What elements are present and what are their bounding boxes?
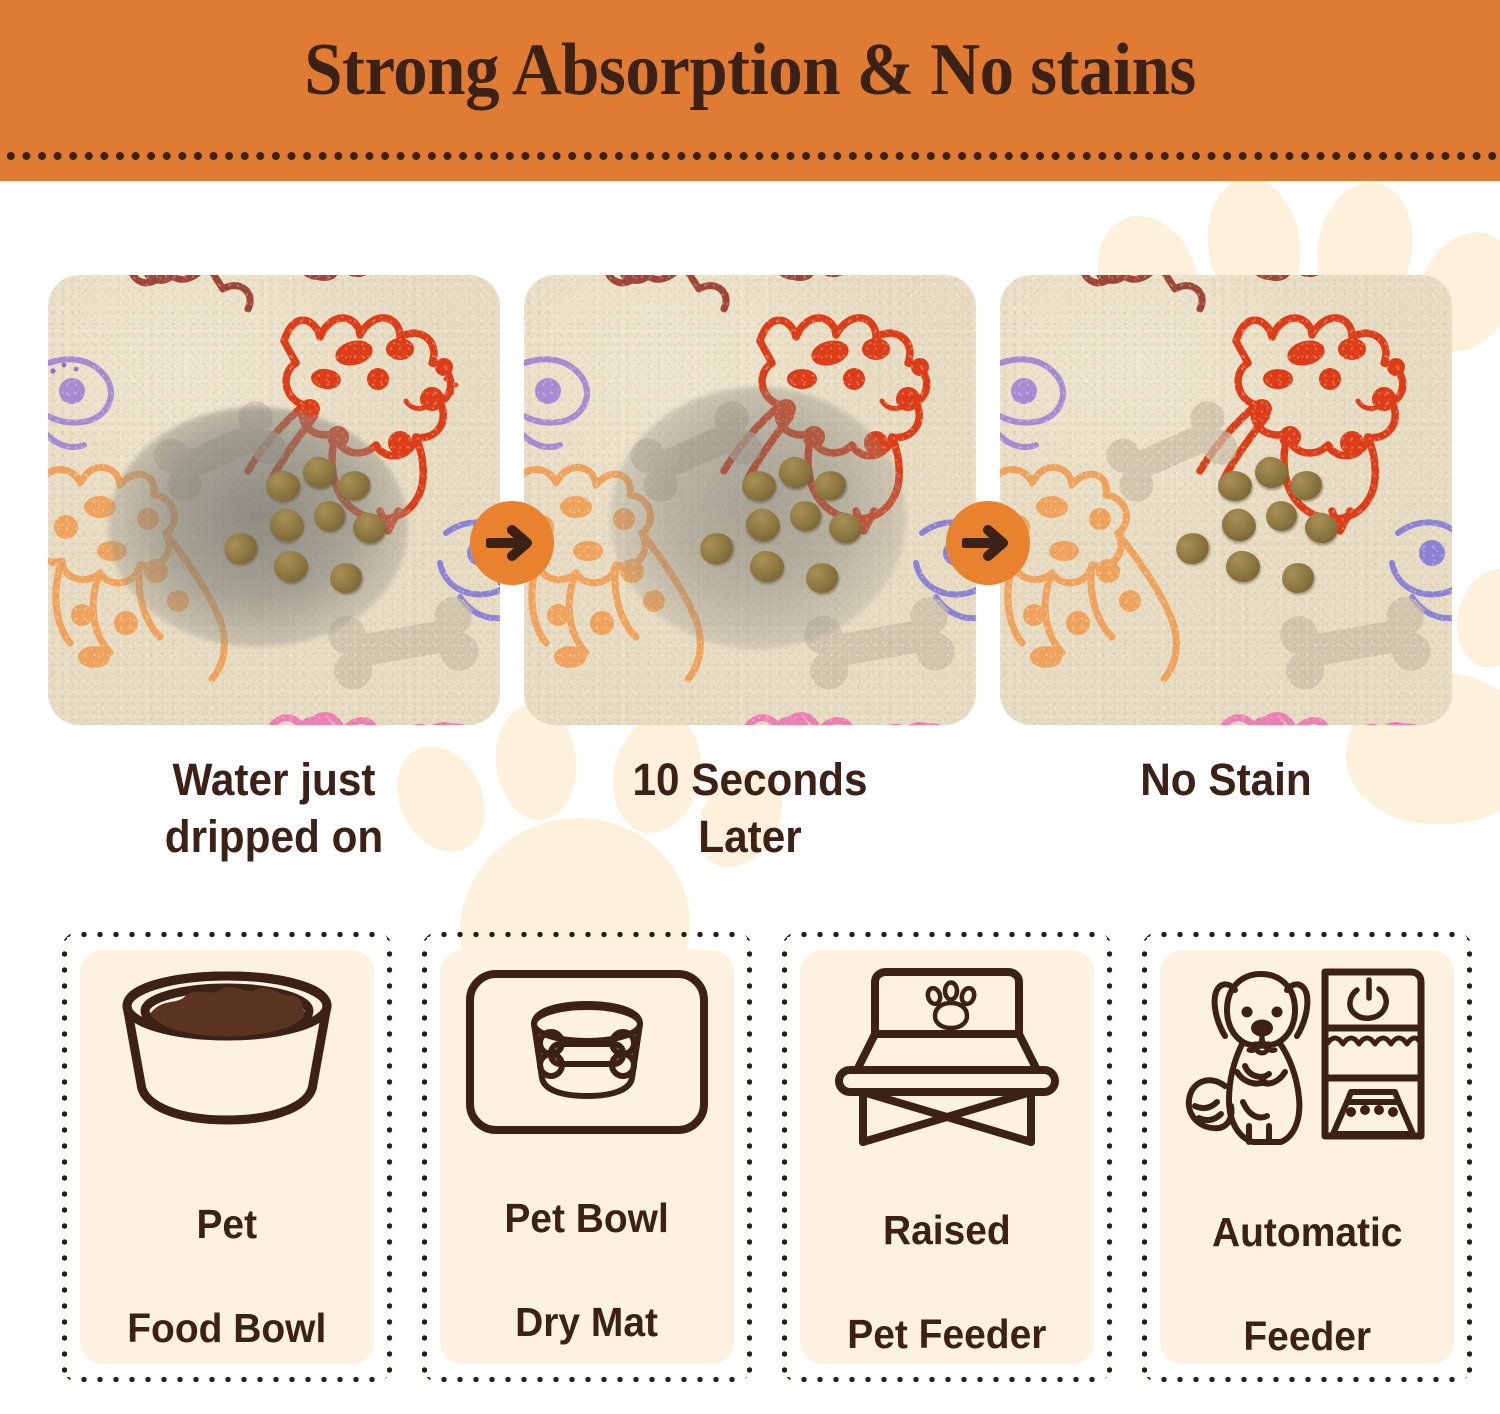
demo-photo-ten-seconds (524, 275, 976, 725)
demo-step-2: 10 Seconds Later (524, 275, 976, 865)
demo-step-3: No Stain (1000, 275, 1452, 808)
mat-texture-noise (1000, 275, 1452, 725)
pet-bowl-dry-mat-icon (457, 966, 717, 1138)
absorption-demo-row: Water just dripped on (0, 181, 1500, 931)
demo-caption: Water just dripped on (62, 751, 487, 865)
raised-pet-feeder-glyph (823, 966, 1071, 1150)
kibble-piece (742, 471, 776, 501)
use-case-card-automatic-feeder[interactable]: Automatic Feeder (1138, 928, 1476, 1386)
page-title: Strong Absorption & No stains (53, 28, 1448, 112)
demo-step-1: Water just dripped on (48, 275, 500, 865)
automatic-feeder-glyph (1181, 966, 1433, 1152)
arrow-right-glyph (486, 521, 538, 565)
card-label-line2: Dry Mat (505, 1296, 669, 1348)
pet-bowl-dry-mat-glyph (462, 966, 712, 1138)
card-label: Pet Bowl Dry Mat (505, 1140, 669, 1400)
demo-caption-line1: No Stain (1014, 751, 1439, 808)
card-label: Pet Food Bowl (127, 1146, 326, 1406)
demo-caption: No Stain (1014, 751, 1439, 808)
card-label-line2: Pet Feeder (847, 1308, 1046, 1360)
card-label-line2: Feeder (1212, 1310, 1402, 1362)
card-inner-panel: Raised Pet Feeder (800, 950, 1094, 1364)
use-case-card-pet-food-bowl[interactable]: Pet Food Bowl (58, 928, 396, 1386)
card-label: Automatic Feeder (1212, 1154, 1402, 1414)
pet-food-bowl-glyph (105, 966, 349, 1144)
demo-caption-line2: Later (538, 808, 963, 865)
card-inner-panel: Pet Food Bowl (80, 950, 374, 1364)
card-label-line1: Pet Bowl (505, 1192, 669, 1244)
card-label-line1: Raised (847, 1204, 1046, 1256)
header-band: Strong Absorption & No stains (0, 0, 1500, 181)
card-inner-panel: Automatic Feeder (1160, 950, 1454, 1364)
raised-pet-feeder-icon (817, 966, 1077, 1150)
card-label-line1: Automatic (1212, 1206, 1402, 1258)
pet-food-bowl-icon (97, 966, 357, 1144)
demo-caption: 10 Seconds Later (538, 751, 963, 865)
kibble-piece (1218, 471, 1252, 501)
kibble-piece (266, 471, 300, 501)
arrow-right-icon-1 (470, 501, 554, 585)
arrow-right-icon-2 (946, 501, 1030, 585)
demo-caption-line1: Water just (62, 751, 487, 808)
use-case-card-raised-pet-feeder[interactable]: Raised Pet Feeder (778, 928, 1116, 1386)
use-case-card-pet-bowl-dry-mat[interactable]: Pet Bowl Dry Mat (418, 928, 756, 1386)
demo-photo-no-stain (1000, 275, 1452, 725)
use-case-cards-row: Pet Food Bowl (0, 928, 1500, 1393)
arrow-right-glyph (962, 521, 1014, 565)
header-dotted-divider (0, 150, 1500, 162)
demo-caption-line2: dripped on (62, 808, 487, 865)
card-label-line2: Food Bowl (127, 1302, 326, 1354)
demo-caption-line1: 10 Seconds (538, 751, 963, 808)
card-label: Raised Pet Feeder (847, 1152, 1046, 1412)
demo-photo-water-dripped (48, 275, 500, 725)
card-label-line1: Pet (127, 1198, 326, 1250)
card-inner-panel: Pet Bowl Dry Mat (440, 950, 734, 1364)
automatic-feeder-icon (1177, 966, 1437, 1152)
